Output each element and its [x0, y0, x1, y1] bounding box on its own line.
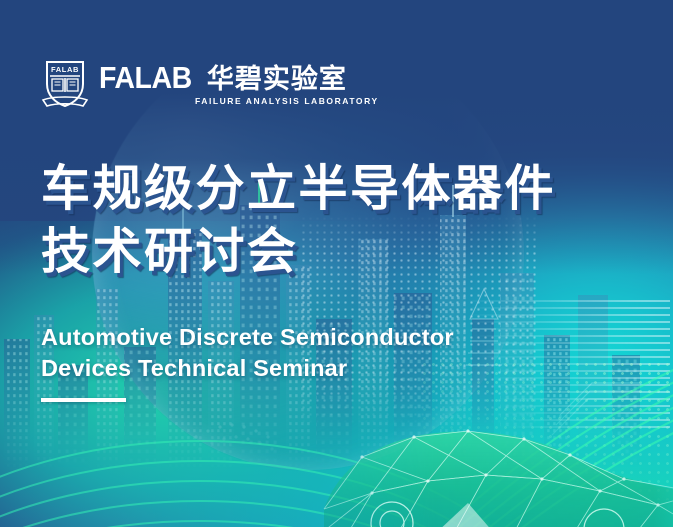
falab-shield-crest-icon: FALAB [41, 58, 89, 110]
brand-header: FALAB FALAB 华碧实验室 FAILURE ANALYSIS LABOR… [41, 58, 379, 110]
title-english-line1: Automotive Discrete Semiconductor [41, 322, 561, 353]
brand-chinese-name: 华碧实验室 [207, 66, 347, 93]
brand-latin-name: FALAB [99, 62, 192, 93]
brand-name-row: FALAB 华碧实验室 [99, 62, 379, 93]
svg-text:FALAB: FALAB [51, 65, 79, 74]
seminar-poster: FALAB FALAB 华碧实验室 FAILURE ANALYSIS LABOR… [0, 0, 673, 527]
brand-text-block: FALAB 华碧实验室 FAILURE ANALYSIS LABORATORY [99, 62, 379, 106]
title-english-line2: Devices Technical Seminar [41, 353, 561, 384]
brand-subtitle: FAILURE ANALYSIS LABORATORY [195, 96, 379, 106]
title-chinese-line2: 技术研讨会 [41, 221, 651, 284]
low-poly-wireframe-car [318, 383, 673, 527]
page-subtitle-english: Automotive Discrete Semiconductor Device… [41, 322, 561, 384]
page-title-chinese: 车规级分立半导体器件 技术研讨会 [41, 158, 651, 283]
white-divider-rule [41, 398, 126, 402]
title-chinese-line1: 车规级分立半导体器件 [41, 158, 651, 221]
